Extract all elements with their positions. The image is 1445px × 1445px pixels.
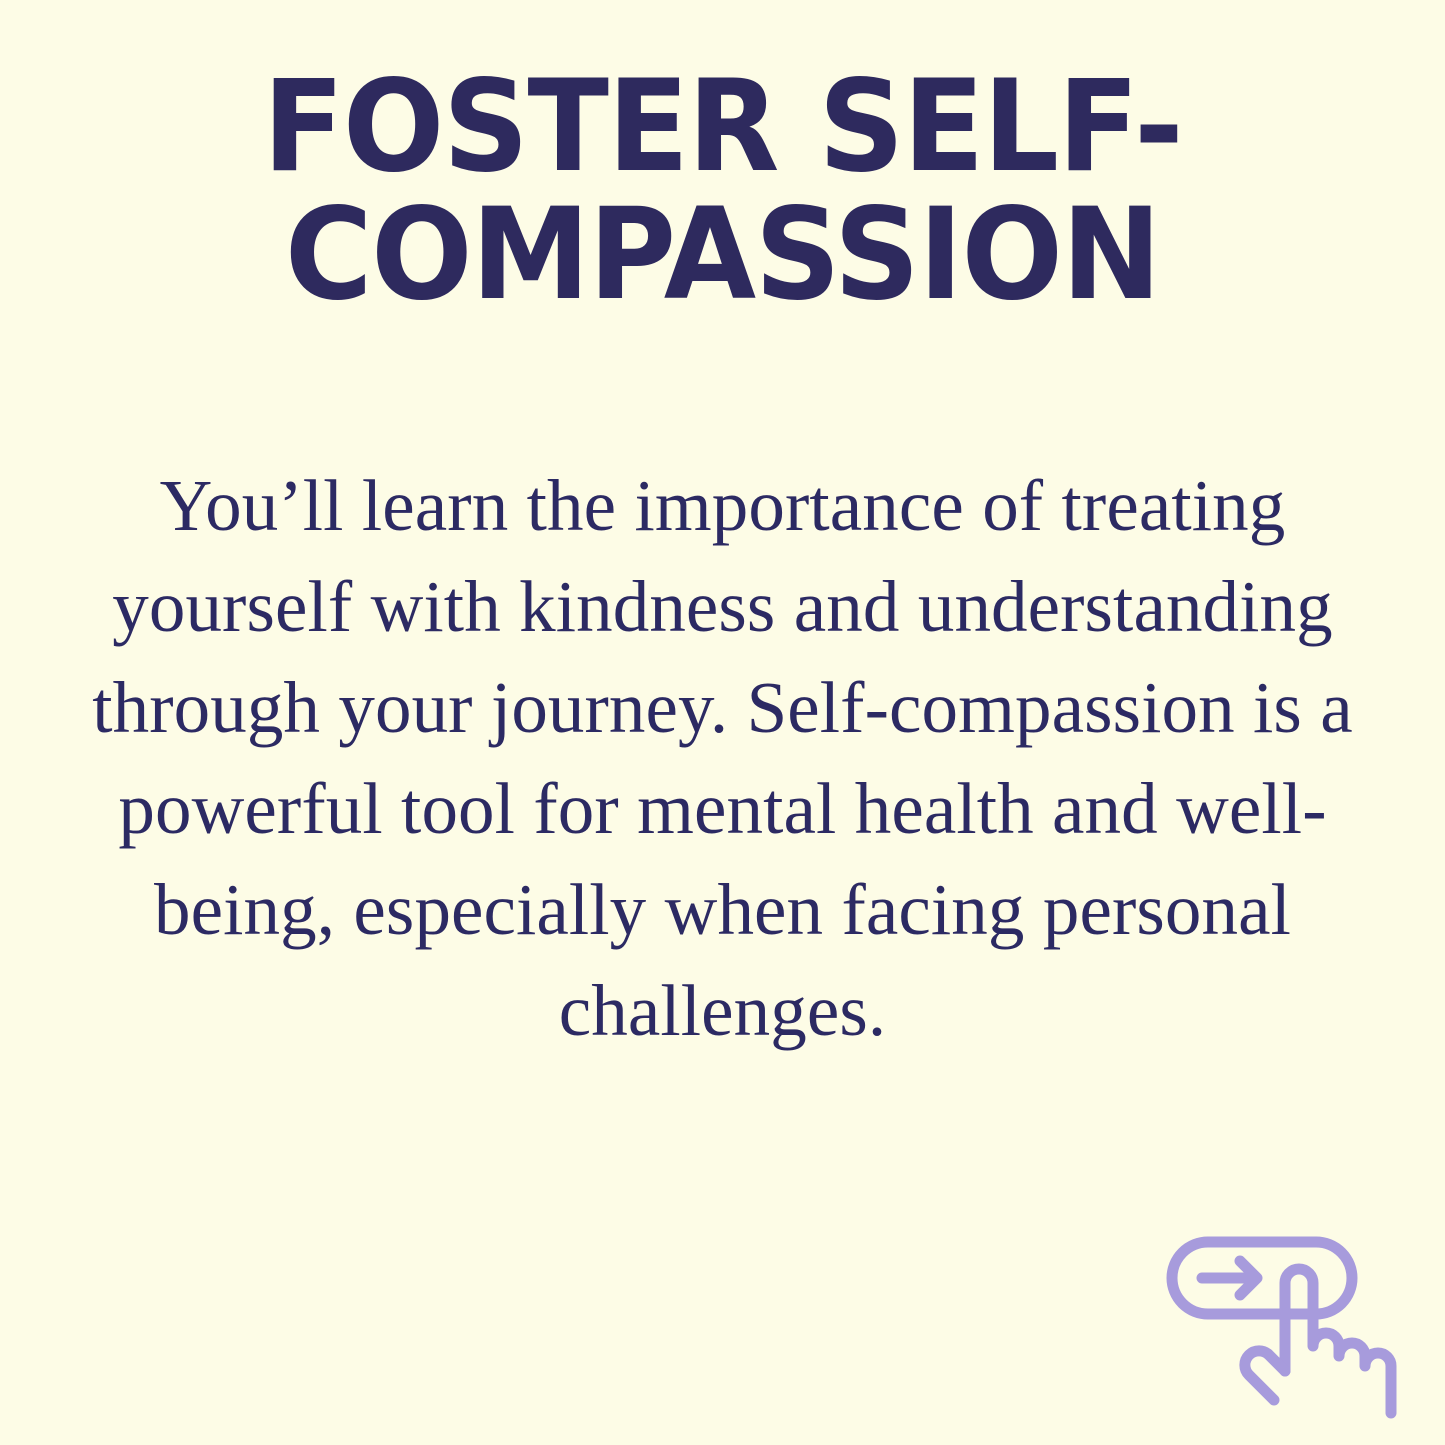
page-title: FOSTER SELF- COMPASSION bbox=[0, 62, 1445, 318]
hand-thumb-icon bbox=[1245, 1351, 1285, 1400]
slide-canvas: FOSTER SELF- COMPASSION You’ll learn the… bbox=[0, 0, 1445, 1445]
tap-next-icon-graphic bbox=[1150, 1228, 1412, 1423]
body-text-block: You’ll learn the importance of treating … bbox=[0, 455, 1445, 1061]
page-title-line-1: FOSTER SELF- bbox=[184, 62, 1260, 190]
tap-next-icon[interactable] bbox=[1150, 1228, 1412, 1423]
page-title-line-2: COMPASSION bbox=[184, 190, 1260, 318]
pointing-hand-icon bbox=[1285, 1269, 1391, 1413]
body-paragraph: You’ll learn the importance of treating … bbox=[78, 455, 1367, 1061]
